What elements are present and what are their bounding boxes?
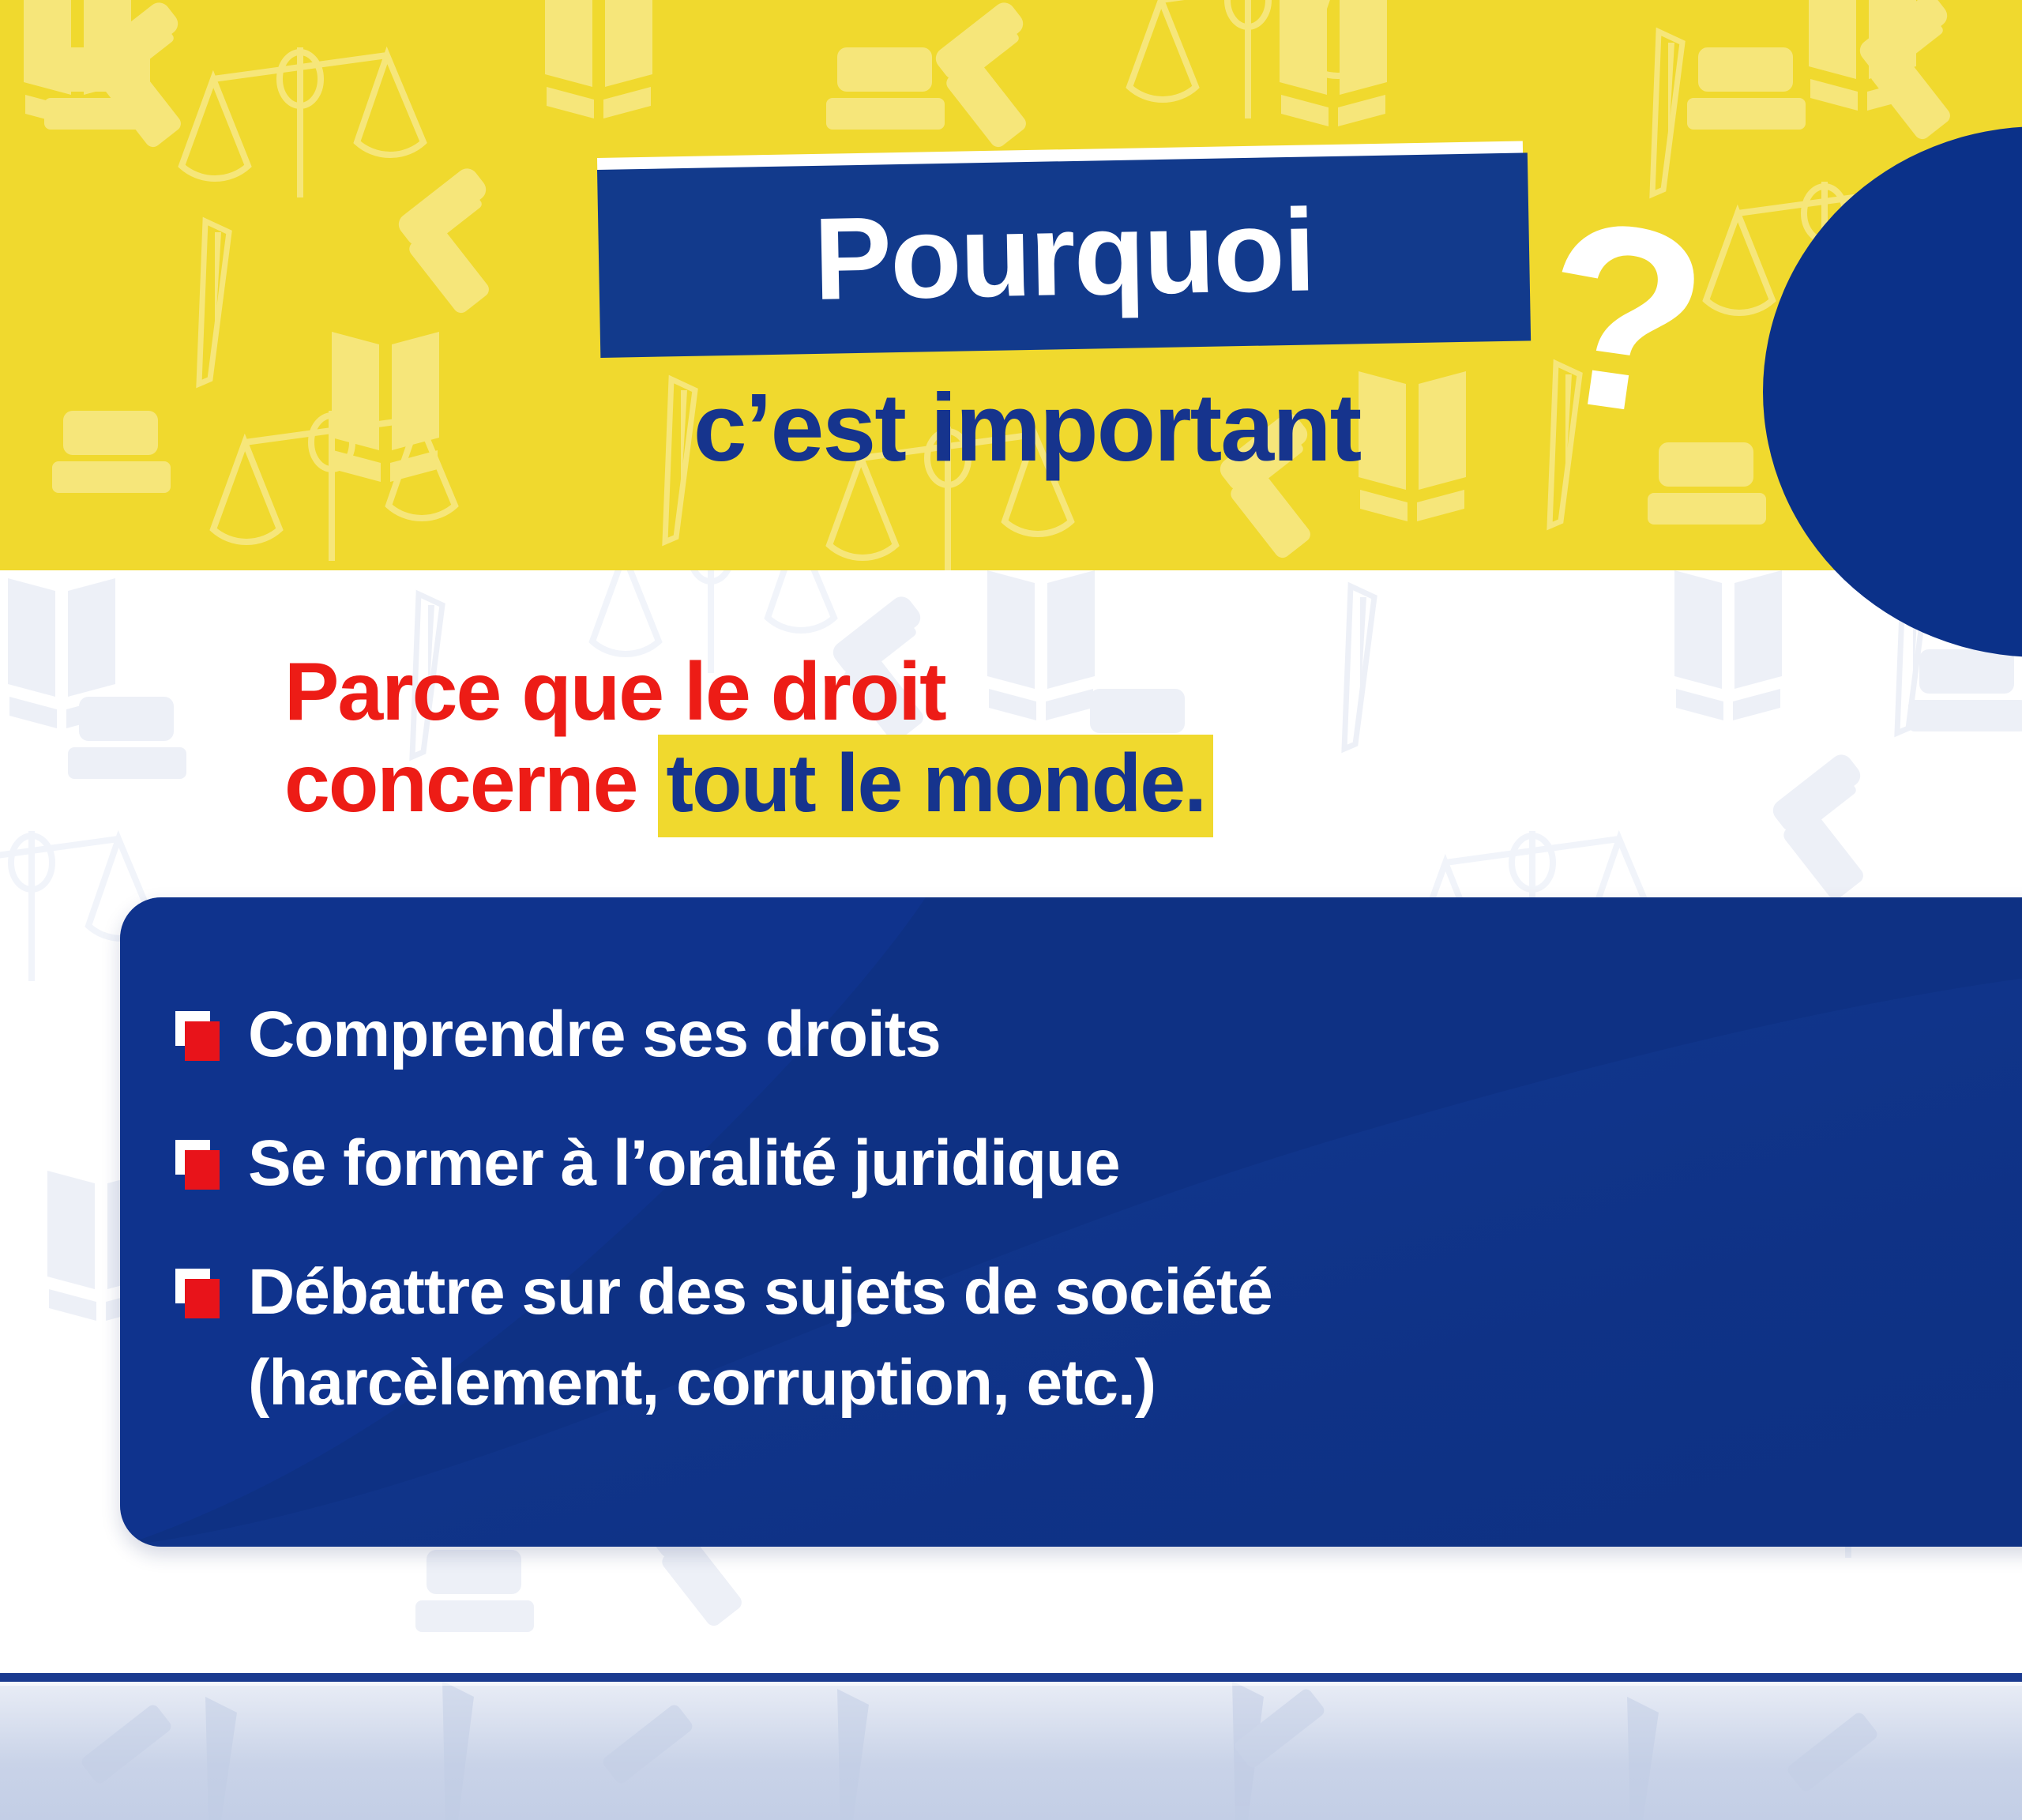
list-item-continuation: (harcèlement, corruption, etc.) [175, 1342, 2022, 1425]
benefits-card: Comprendre ses droits Se former à l’oral… [120, 897, 2022, 1547]
list-item: Comprendre ses droits [175, 994, 2022, 1077]
list-item-label: Se former à l’oralité juridique [248, 1122, 1120, 1205]
bullet-spacer [175, 1359, 220, 1410]
square-bullet-icon [175, 1011, 220, 1062]
legal-icons-pattern-bottom [0, 1681, 2022, 1820]
question-mark-icon: ? [1527, 179, 1721, 459]
square-bullet-icon [175, 1269, 220, 1319]
bottom-blue-rule [0, 1673, 2022, 1682]
header-title-group: Pourquoi c’est important ? [0, 0, 2022, 570]
bottom-rule-highlight [0, 1682, 2022, 1686]
headline-highlight: tout le monde. [658, 735, 1213, 837]
page-title: Pourquoi [598, 188, 1531, 322]
poster-root: Pourquoi c’est important ? Parce que le … [0, 0, 2022, 1820]
headline: Parce que le droit concerne tout le mond… [284, 646, 1785, 830]
square-bullet-icon [175, 1140, 220, 1190]
list-item: Débattre sur des sujets de société [175, 1251, 2022, 1334]
headline-line1: Parce que le droit [284, 646, 945, 738]
title-blue-box: Pourquoi [597, 152, 1531, 358]
list-item: Se former à l’oralité juridique [175, 1122, 2022, 1205]
list-item-label: Débattre sur des sujets de société [248, 1251, 1272, 1334]
page-subtitle: c’est important [505, 379, 1548, 476]
list-item-label: Comprendre ses droits [248, 994, 941, 1077]
headline-line2-prefix: concerne [284, 738, 637, 829]
bottom-gradient-strip [0, 1681, 2022, 1820]
list-item-label: (harcèlement, corruption, etc.) [248, 1342, 1156, 1425]
bullet-list: Comprendre ses droits Se former à l’oral… [175, 994, 2022, 1471]
